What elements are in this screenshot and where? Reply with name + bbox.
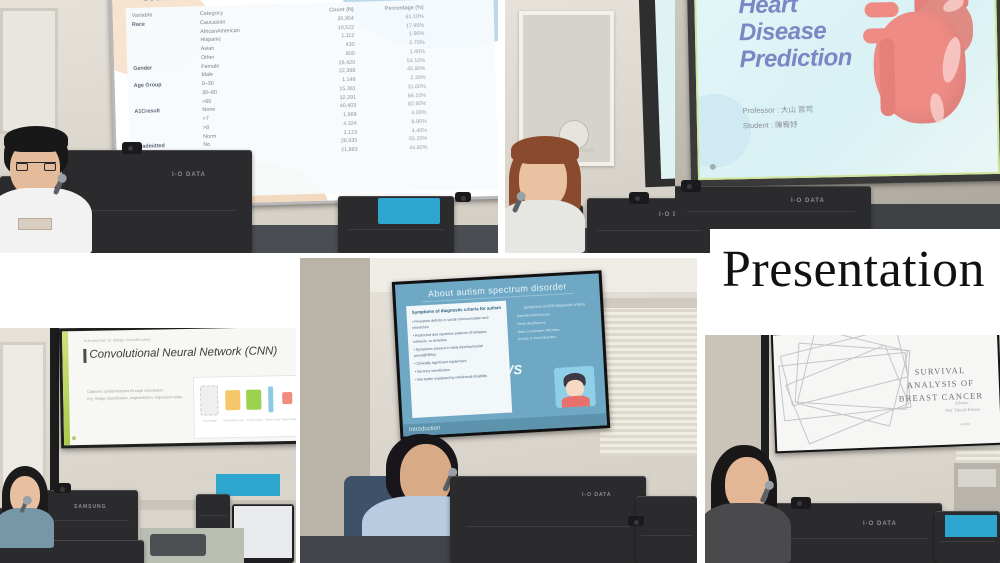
control-panel-screen [958,469,996,487]
torso [0,508,54,548]
photo-breast-cancer: SURVIVAL ANALYSIS OF BREAST CANCER Advis… [705,335,1000,563]
diagram-dense [268,386,273,412]
projector-screen: About autism spectrum disorder Symptoms … [392,270,610,439]
diagram-label-output: Output Layer [280,418,296,421]
screen-side-rail [50,328,59,504]
webcam-icon [628,516,644,526]
slide-eyebrow: Introduction to Image Classification [84,338,151,343]
right-bullets: · Gastrointestinal issues· Sleep disturb… [515,309,597,343]
monitor-brand-label: I-O DATA [172,172,206,178]
slide-accent-bar [62,331,70,445]
webcam-icon [681,180,701,192]
glasses-icon [16,162,56,168]
photo-autism: About autism spectrum disorder Symptoms … [300,258,697,563]
page-title: Presentation [722,240,985,299]
equipment [150,534,206,556]
professor-line: Professor : 大山 哲司 [742,102,813,118]
bullet-2: e.g. Image classification, segmentation,… [87,394,182,403]
monitor: I-O DATA [767,503,942,563]
slide-title: Heart Disease Prediction [738,0,852,74]
slide-title: About autism spectrum disorder [395,279,599,300]
diagram-output [282,392,292,404]
door-frame [0,8,58,134]
title-line-3: Prediction [739,45,852,74]
slide-author: Author [960,422,970,426]
webcam-icon [791,497,811,509]
slide-advisor: Advisor : Prof. Takeshi Kimura [945,399,980,414]
name-tag [18,218,52,230]
heart-illustration-icon [850,0,1000,167]
webcam-icon [54,483,71,493]
diagram-conv [225,390,240,410]
left-bullets: • Persistent deficits in social communic… [412,314,505,384]
child-illustration-icon [554,366,596,408]
projector-screen: Introduction to Image Classification Con… [59,328,296,448]
heart-vessel [864,2,898,18]
projector-screen: Heart Disease Prediction Professor : 大山 … [687,0,1000,187]
projector-screen: SURVIVAL ANALYSIS OF BREAST CANCER Advis… [771,335,1000,453]
slide-left-panel: Symptoms of diagnostic criteria for auti… [406,301,512,418]
monitor: I-O DATA [450,476,646,563]
photo-collage: …LES AND DISTRIBUTIONS Variable Category… [0,0,1000,563]
webcam-icon [122,142,142,154]
webcam-icon [629,192,649,204]
screen-glow [378,198,440,224]
monitor [196,494,230,530]
fringe [511,136,579,164]
fringe [4,126,68,152]
monitor [636,496,697,563]
torso [705,503,791,563]
diagram-pool [246,390,261,410]
window-header [596,298,697,308]
title-marker [83,349,86,363]
student-line: Student : 陳宥妤 [743,117,814,133]
slide-credits: Professor : 大山 哲司 Student : 陳宥妤 [742,102,813,133]
slide-breast-cancer: SURVIVAL ANALYSIS OF BREAST CANCER Advis… [773,335,1000,451]
child-face [566,379,585,397]
cell-percentage: 44.80% [357,144,427,155]
slide-page-dot [710,164,716,170]
slide-heart-disease: Heart Disease Prediction Professor : 大山 … [694,0,1000,180]
photo-heart-disease: Heart Disease Prediction Professor : 大山 … [675,0,1000,229]
monitor-brand-label: I-O DATA [791,198,825,204]
diagram-label-pool: Pooling Layer [244,418,266,421]
slide-page-dot [72,436,76,440]
heart-artery [879,38,896,116]
monitor-brand-label: I-O DATA [582,492,611,498]
slide-autism: About autism spectrum disorder Symptoms … [395,273,607,436]
screen-glow [945,515,997,537]
cnn-diagram: Input Image Convolution Layer Pooling La… [193,375,296,439]
diagram-label-conv: Convolution Layer [222,419,246,422]
photo-diabetes-table: …LES AND DISTRIBUTIONS Variable Category… [0,0,498,253]
distribution-table: Variable Category Count (N) Percentage (… [132,2,494,161]
cell-count: 21,883 [291,146,357,157]
advisor-name: Prof. Takeshi Kimura [945,406,980,414]
diagram-input [200,385,219,415]
screen-glow [216,474,280,496]
photo-cnn: Introduction to Image Classification Con… [0,328,296,563]
title-line-2: Disease [739,18,852,47]
window-blinds [600,306,697,456]
monitor: I-O DATA [675,186,871,229]
slide-cnn: Introduction to Image Classification Con… [62,328,296,445]
slide-right-panel: Symptoms of ASD diagnostic criteria · Ga… [514,302,596,344]
slide-title: Convolutional Neural Network (CNN) [89,345,277,361]
monitor-brand-label: SAMSUNG [74,504,107,510]
slide-bullets: Captures spatial features through convol… [87,387,182,403]
monitor-brand-label: I-O DATA [863,521,897,527]
diagram-label-input: Input Image [199,419,221,422]
vs-label: VS [504,362,522,378]
webcam-icon [455,192,471,202]
child-body [561,395,590,408]
